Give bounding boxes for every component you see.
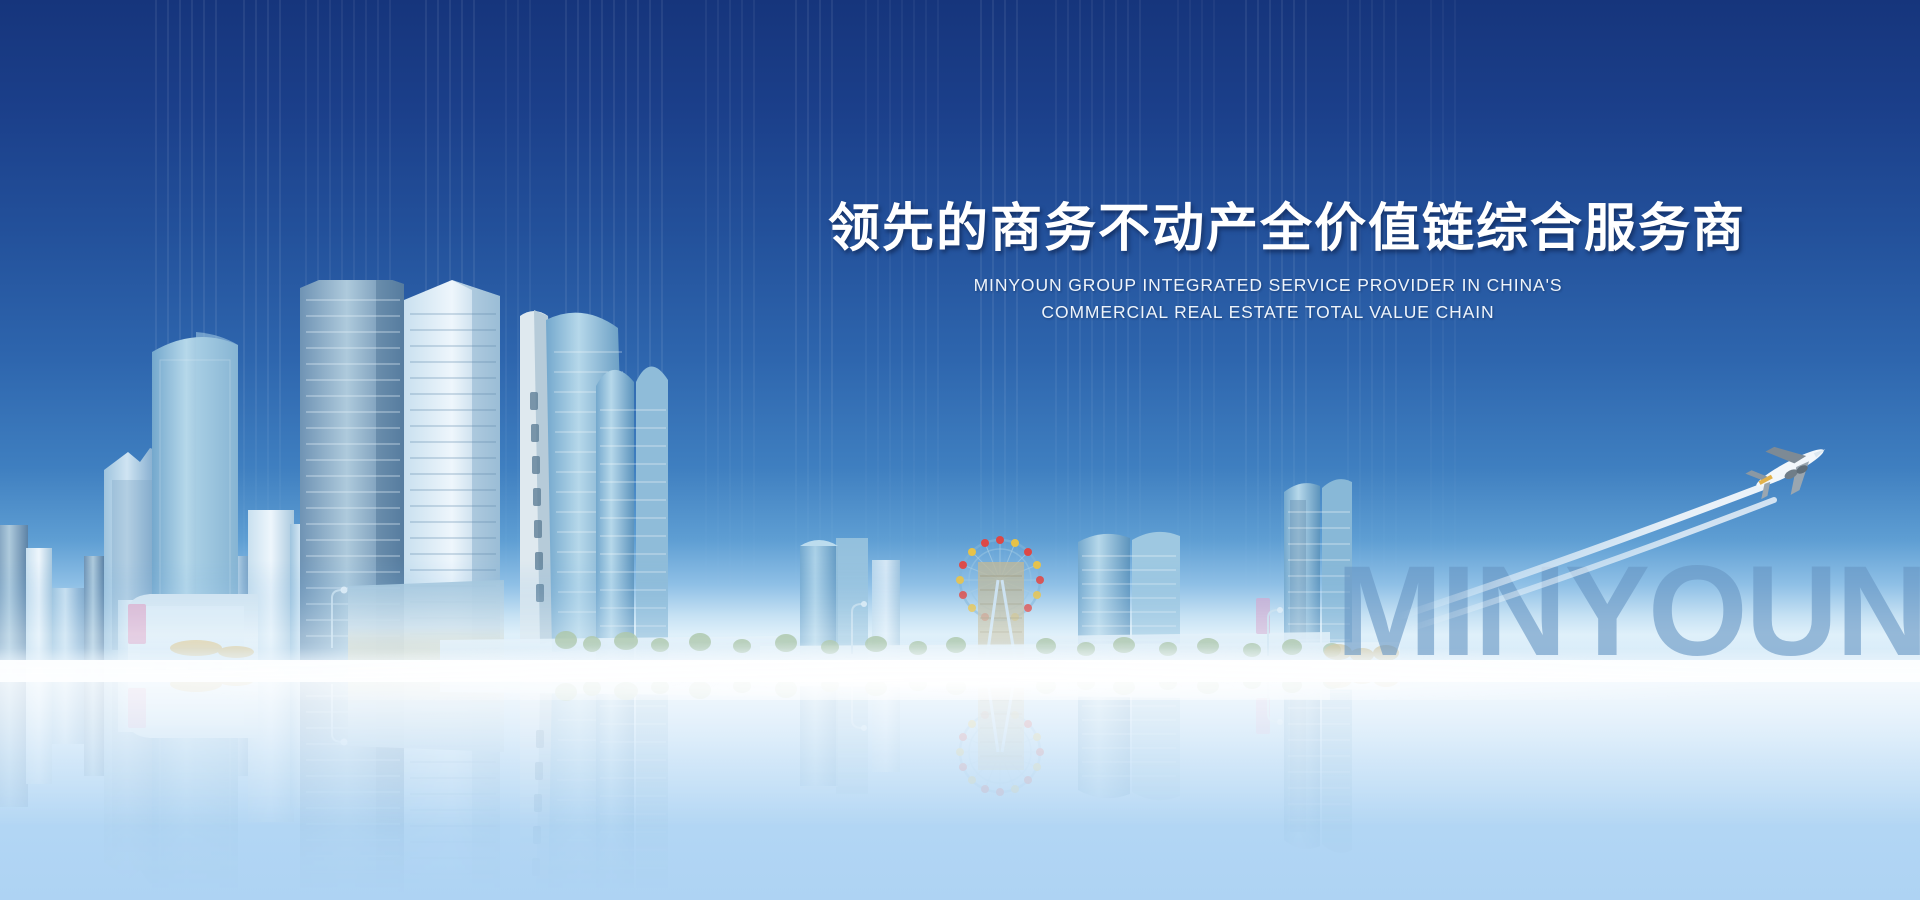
page-title: 领先的商务不动产全价值链综合服务商 <box>828 200 1708 258</box>
reflective-floor-sheen <box>0 660 1920 900</box>
airplane-layer <box>0 0 1920 900</box>
subtitle-line-1: MINYOUN GROUP INTEGRATED SERVICE PROVIDE… <box>828 272 1708 299</box>
minyoun-watermark: MINYOUN <box>1336 548 1920 676</box>
subtitle-line-2: COMMERCIAL REAL ESTATE TOTAL VALUE CHAIN <box>828 299 1708 326</box>
hero-banner: MINYOUN <box>0 0 1920 900</box>
subtitle: MINYOUN GROUP INTEGRATED SERVICE PROVIDE… <box>828 272 1708 326</box>
airplane-icon <box>1741 426 1837 509</box>
headline-block: 领先的商务不动产全价值链综合服务商 MINYOUN GROUP INTEGRAT… <box>828 200 1708 326</box>
city-skyline <box>0 0 1920 900</box>
skyline-reflection <box>0 666 1400 900</box>
